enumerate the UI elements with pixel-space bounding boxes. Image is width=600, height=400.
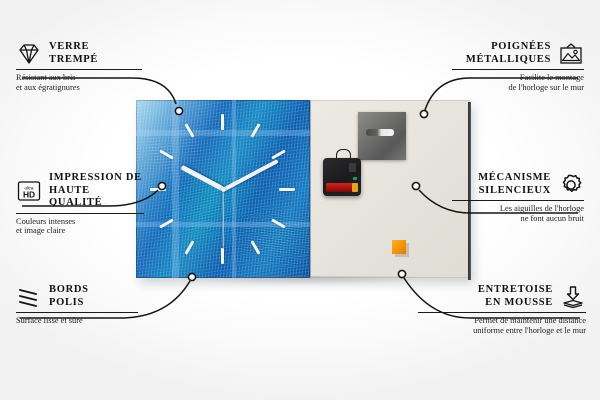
feature-subtitle: Permet de maintenir une distance uniform… <box>418 316 586 336</box>
gear-icon <box>558 173 584 197</box>
feature-title: IMPRESSION DE HAUTE QUALITÉ <box>49 172 144 210</box>
feature-rule <box>16 213 144 214</box>
feature-title: VERRE TREMPÉ <box>49 41 98 66</box>
ultra-hd-icon: ultra HD <box>16 179 42 203</box>
svg-text:HD: HD <box>23 189 35 199</box>
feature-verre-trempe: VERRE TREMPÉ Résistant aux bris et aux é… <box>16 41 142 93</box>
feature-rule <box>418 312 586 313</box>
feature-title: ENTRETOISE EN MOUSSE <box>478 284 553 309</box>
feature-subtitle: Surface lisse et sûre <box>16 316 138 326</box>
connector-dot-poignees <box>420 110 427 117</box>
feature-subtitle: Les aiguilles de l'horloge ne font aucun… <box>452 204 584 224</box>
feature-poignees-metalliques: POIGNÉES MÉTALLIQUES Facilite le montage… <box>452 41 584 93</box>
polished-edges-icon <box>16 285 42 309</box>
feature-subtitle: Résistant aux bris et aux égratignures <box>16 73 142 93</box>
feature-title: MÉCANISME SILENCIEUX <box>478 172 551 197</box>
feature-bords-polis: BORDS POLIS Surface lisse et sûre <box>16 284 138 326</box>
connector-dot-verre-trempe <box>175 107 182 114</box>
feature-rule <box>16 69 142 70</box>
feature-title: POIGNÉES MÉTALLIQUES <box>466 41 551 66</box>
picture-hanger-icon <box>558 42 584 66</box>
feature-rule <box>452 200 584 201</box>
feature-entretoise-mousse: ENTRETOISE EN MOUSSE Permet de maintenir… <box>418 284 586 336</box>
connector-dot-mecanisme <box>412 182 419 189</box>
feature-subtitle: Couleurs intenses et image claire <box>16 217 144 237</box>
connector-dot-impression <box>158 182 165 189</box>
feature-rule <box>452 69 584 70</box>
connector-dot-bords-polis <box>188 273 195 280</box>
feature-impression-hd: ultra HD IMPRESSION DE HAUTE QUALITÉ Cou… <box>16 172 144 236</box>
foam-spacer-icon <box>560 285 586 309</box>
feature-title: BORDS POLIS <box>49 284 89 309</box>
feature-subtitle: Facilite le montage de l'horloge sur le … <box>452 73 584 93</box>
diamond-icon <box>16 42 42 66</box>
feature-rule <box>16 312 138 313</box>
feature-mecanisme-silencieux: MÉCANISME SILENCIEUX Les aiguilles de l'… <box>452 172 584 224</box>
infographic-canvas: VERRE TREMPÉ Résistant aux bris et aux é… <box>0 0 600 400</box>
connector-dot-entretoise <box>398 270 405 277</box>
